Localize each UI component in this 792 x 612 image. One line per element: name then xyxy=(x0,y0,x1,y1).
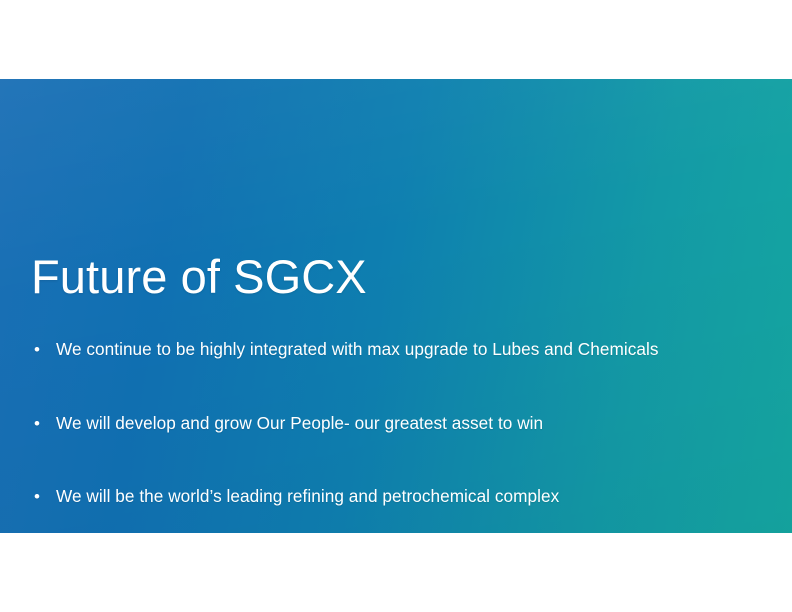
list-item: • We will develop and grow Our People- o… xyxy=(31,412,776,435)
list-item-label: We continue to be highly integrated with… xyxy=(56,338,776,361)
page-canvas: Future of SGCX • We continue to be highl… xyxy=(0,0,792,612)
list-item-label: We will develop and grow Our People- our… xyxy=(56,412,776,435)
bullet-point-icon: • xyxy=(31,485,56,508)
slide-content-area: Future of SGCX • We continue to be highl… xyxy=(0,79,792,533)
list-item-label: We will be the world’s leading refining … xyxy=(56,485,776,508)
list-item: • We will be the world’s leading refinin… xyxy=(31,485,776,508)
bullet-point-icon: • xyxy=(31,338,56,361)
page-title: Future of SGCX xyxy=(31,252,367,303)
list-item: • We continue to be highly integrated wi… xyxy=(31,338,776,361)
bullet-point-icon: • xyxy=(31,412,56,435)
presentation-slide: Future of SGCX • We continue to be highl… xyxy=(0,79,792,533)
